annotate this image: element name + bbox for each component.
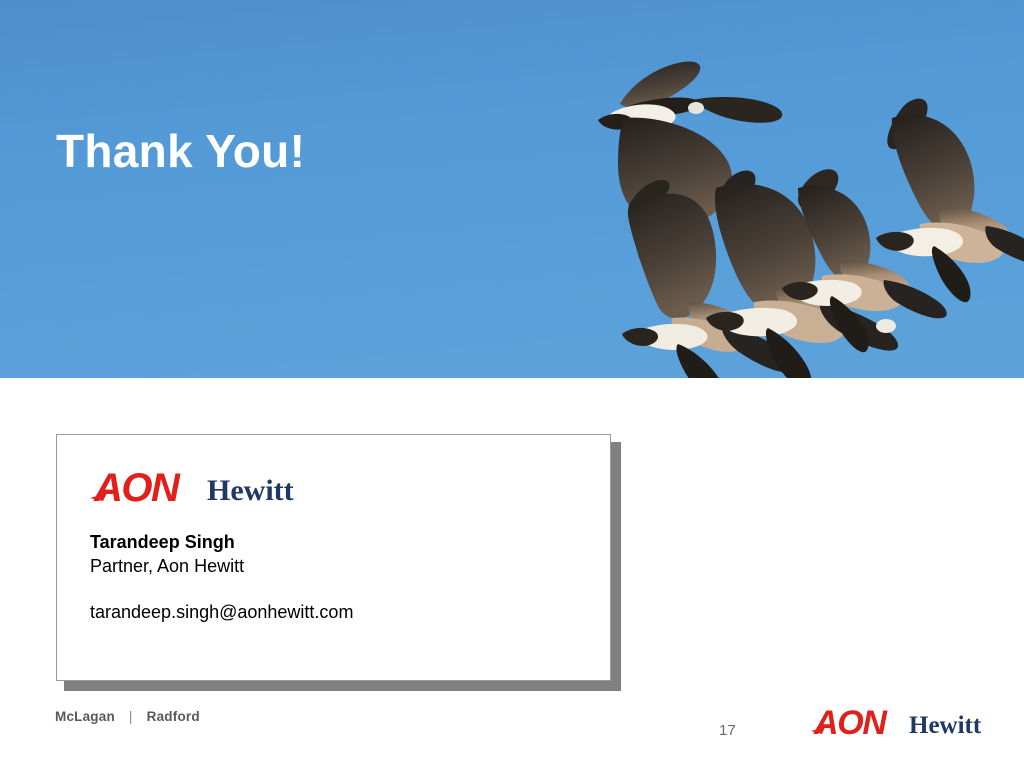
hero-banner: Thank You! xyxy=(0,0,1024,378)
footer-brand-mclagan: McLagan xyxy=(55,709,115,724)
page-number: 17 xyxy=(719,722,736,739)
contact-name: Tarandeep Singh xyxy=(90,530,235,554)
contact-role: Partner, Aon Hewitt xyxy=(90,554,244,578)
page-title: Thank You! xyxy=(56,126,305,177)
aon-wordmark: AON xyxy=(811,705,888,739)
footer-brand-separator: | xyxy=(115,709,147,724)
hewitt-wordmark: Hewitt xyxy=(909,712,981,739)
footer-brand-radford: Radford xyxy=(147,709,200,724)
aon-hewitt-logo-footer: AON Hewitt xyxy=(811,705,981,739)
geese-sky-photo xyxy=(0,0,1024,378)
contact-card: AON Hewitt Tarandeep Singh Partner, Aon … xyxy=(56,434,611,681)
contact-email[interactable]: tarandeep.singh@aonhewitt.com xyxy=(90,600,353,624)
svg-text:AON: AON xyxy=(813,705,888,739)
hewitt-wordmark: Hewitt xyxy=(207,474,294,507)
svg-text:AON: AON xyxy=(93,467,181,507)
aon-wordmark: AON xyxy=(90,467,181,507)
aon-hewitt-logo: AON Hewitt xyxy=(90,467,294,507)
footer-brands: McLagan|Radford xyxy=(55,709,200,724)
